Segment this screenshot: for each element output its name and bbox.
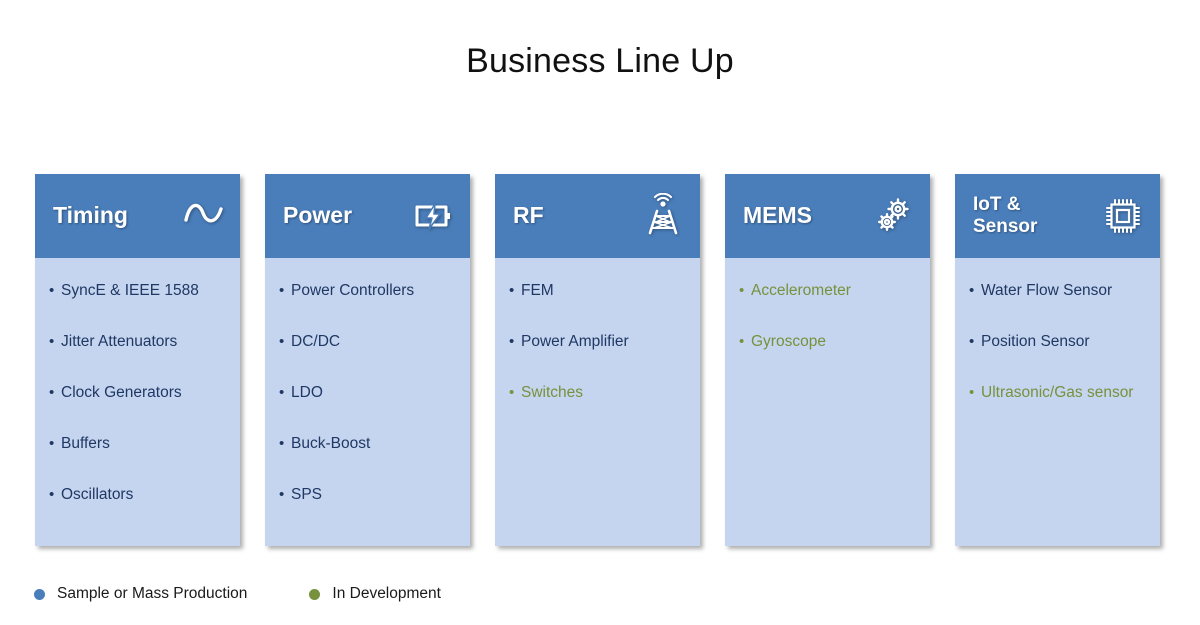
battery-charging-icon [410, 193, 456, 239]
list-item: • SyncE & IEEE 1588 [49, 280, 228, 302]
list-item: • FEM [509, 280, 688, 302]
category-card-row: Timing • SyncE & IEEE 1588 • Jitter Atte… [35, 174, 1165, 546]
card-mems[interactable]: MEMS • [725, 174, 930, 546]
bullet-icon: • [279, 433, 291, 454]
legend-dot-blue-icon [34, 589, 45, 600]
bullet-icon: • [739, 331, 751, 352]
sine-wave-icon [180, 193, 226, 239]
list-item: • Power Controllers [279, 280, 458, 302]
slide-canvas: Business Line Up Timing • SyncE & IEEE 1… [0, 0, 1200, 625]
list-item-label: Position Sensor [981, 331, 1148, 353]
list-item-label: Clock Generators [61, 382, 228, 404]
card-title-power: Power [283, 202, 352, 229]
list-item-label: Jitter Attenuators [61, 331, 228, 353]
list-item: • Buffers [49, 433, 228, 455]
microchip-icon [1100, 193, 1146, 239]
list-item-label: Gyroscope [751, 331, 918, 353]
list-item: • Buck-Boost [279, 433, 458, 455]
bullet-icon: • [279, 484, 291, 505]
list-item-label: Ultrasonic/Gas sensor [981, 382, 1148, 404]
list-item-label: FEM [521, 280, 688, 302]
bullet-icon: • [279, 382, 291, 403]
bullet-icon: • [49, 433, 61, 454]
page-title: Business Line Up [0, 42, 1200, 81]
bullet-icon: • [49, 382, 61, 403]
list-item: • Gyroscope [739, 331, 918, 353]
card-rf[interactable]: RF • FEM • [495, 174, 700, 546]
bullet-icon: • [509, 280, 521, 301]
card-body-iot-sensor: • Water Flow Sensor • Position Sensor • … [955, 258, 1160, 546]
card-title-timing: Timing [53, 202, 128, 229]
bullet-icon: • [279, 331, 291, 352]
card-header-timing: Timing [35, 174, 240, 258]
card-title-rf: RF [513, 202, 544, 229]
bullet-icon: • [49, 280, 61, 301]
card-timing[interactable]: Timing • SyncE & IEEE 1588 • Jitter Atte… [35, 174, 240, 546]
list-item: • Switches [509, 382, 688, 404]
bullet-icon: • [969, 331, 981, 352]
list-item-label: Accelerometer [751, 280, 918, 302]
list-item: • Water Flow Sensor [969, 280, 1148, 302]
legend-label-production: Sample or Mass Production [57, 585, 247, 603]
list-item-label: Power Controllers [291, 280, 458, 302]
bullet-icon: • [49, 331, 61, 352]
card-header-power: Power [265, 174, 470, 258]
list-item-label: Buck-Boost [291, 433, 458, 455]
list-item-label: Power Amplifier [521, 331, 688, 353]
card-title-iot-sensor: IoT & Sensor [973, 194, 1037, 239]
card-iot-sensor[interactable]: IoT & Sensor [955, 174, 1160, 546]
antenna-tower-icon [640, 193, 686, 239]
list-item: • Power Amplifier [509, 331, 688, 353]
card-power[interactable]: Power • Power Controllers • DC/DC [265, 174, 470, 546]
legend-label-development: In Development [332, 585, 441, 603]
list-item-label: SyncE & IEEE 1588 [61, 280, 228, 302]
card-body-power: • Power Controllers • DC/DC • LDO • Buck… [265, 258, 470, 546]
card-body-rf: • FEM • Power Amplifier • Switches [495, 258, 700, 546]
gears-icon [870, 193, 916, 239]
bullet-icon: • [969, 280, 981, 301]
bullet-icon: • [509, 331, 521, 352]
legend-entry-development: In Development [309, 585, 441, 603]
list-item: • Accelerometer [739, 280, 918, 302]
list-item: • SPS [279, 484, 458, 506]
bullet-icon: • [49, 484, 61, 505]
list-item: • LDO [279, 382, 458, 404]
bullet-icon: • [509, 382, 521, 403]
list-item: • Jitter Attenuators [49, 331, 228, 353]
bullet-icon: • [279, 280, 291, 301]
list-item: • Ultrasonic/Gas sensor [969, 382, 1148, 404]
list-item-label: SPS [291, 484, 458, 506]
list-item-label: Oscillators [61, 484, 228, 506]
list-item-label: LDO [291, 382, 458, 404]
bullet-icon: • [969, 382, 981, 403]
legend-entry-production: Sample or Mass Production [34, 585, 247, 603]
card-header-mems: MEMS [725, 174, 930, 258]
list-item-label: Water Flow Sensor [981, 280, 1148, 302]
legend: Sample or Mass Production In Development [34, 585, 441, 603]
card-body-mems: • Accelerometer • Gyroscope [725, 258, 930, 546]
list-item-label: Switches [521, 382, 688, 404]
list-item-label: Buffers [61, 433, 228, 455]
list-item-label: DC/DC [291, 331, 458, 353]
list-item: • Clock Generators [49, 382, 228, 404]
card-body-timing: • SyncE & IEEE 1588 • Jitter Attenuators… [35, 258, 240, 546]
legend-dot-green-icon [309, 589, 320, 600]
card-header-rf: RF [495, 174, 700, 258]
card-title-mems: MEMS [743, 202, 812, 229]
card-header-iot-sensor: IoT & Sensor [955, 174, 1160, 258]
list-item: • Position Sensor [969, 331, 1148, 353]
bullet-icon: • [739, 280, 751, 301]
list-item: • DC/DC [279, 331, 458, 353]
list-item: • Oscillators [49, 484, 228, 506]
